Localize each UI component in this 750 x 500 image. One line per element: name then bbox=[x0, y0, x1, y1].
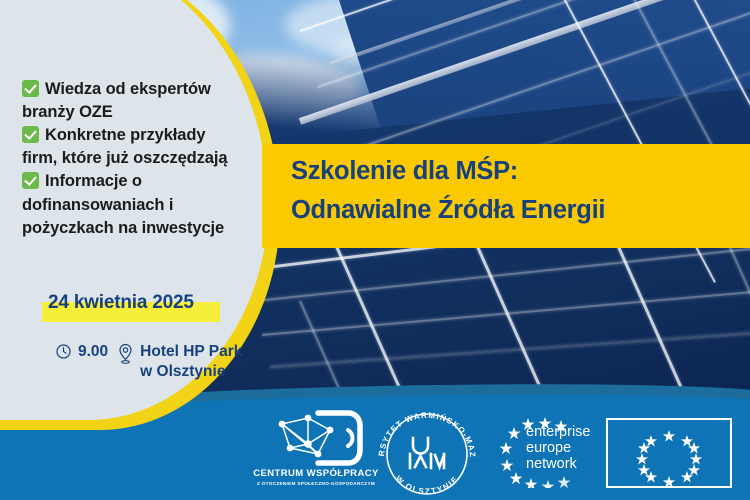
een-line-2: europe bbox=[526, 440, 590, 456]
logo-european-union-flag bbox=[606, 418, 732, 488]
een-wordmark: enterprise europe network bbox=[526, 424, 590, 473]
list-item: Konkretne przykłady bbox=[22, 124, 280, 146]
logo-strip: CENTRUM WSPÓŁPRACY Z OTOCZENIEM SPOŁECZN… bbox=[0, 404, 750, 500]
event-venue: Hotel HP Parkw Olsztynie bbox=[117, 342, 242, 382]
event-time: 9.00 bbox=[55, 342, 108, 362]
promotional-poster: Wiedza od ekspertów branży OZE Konkretne… bbox=[0, 0, 750, 500]
bullet-text: dofinansowaniach i bbox=[22, 196, 173, 214]
title-line-1: Szkolenie dla MŚP: bbox=[291, 157, 518, 186]
list-item-continuation: dofinansowaniach i bbox=[22, 194, 280, 216]
event-meta: 9.00 Hotel HP Parkw Olsztynie bbox=[55, 342, 242, 382]
logo-centrum-wspolpracy: CENTRUM WSPÓŁPRACY Z OTOCZENIEM SPOŁECZN… bbox=[246, 410, 386, 486]
bullet-text: firm, które już oszczędzają bbox=[22, 149, 227, 167]
time-text: 9.00 bbox=[78, 342, 108, 362]
een-line-1: enterprise bbox=[526, 424, 590, 440]
check-icon bbox=[22, 80, 39, 97]
benefits-list: Wiedza od ekspertów branży OZE Konkretne… bbox=[22, 78, 280, 240]
svg-text:W OLSZTYNIE: W OLSZTYNIE bbox=[394, 474, 461, 496]
bullet-text: pożyczkach na inwestycje bbox=[22, 219, 224, 237]
list-item-continuation: branży OZE bbox=[22, 101, 280, 123]
centrum-name: CENTRUM WSPÓŁPRACY bbox=[246, 468, 386, 479]
uwm-seal-icon: UNIWERSYTET WARMIŃSKO-MAZURSKI W OLSZTYN… bbox=[374, 408, 480, 496]
bullet-text: Wiedza od ekspertów bbox=[45, 80, 211, 98]
location-pin-icon bbox=[117, 343, 134, 365]
list-item: Wiedza od ekspertów bbox=[22, 78, 280, 100]
bullet-text: Konkretne przykłady bbox=[45, 126, 205, 144]
network-hexagon-icon bbox=[268, 410, 364, 466]
left-panel-content: Wiedza od ekspertów branży OZE Konkretne… bbox=[0, 0, 290, 400]
bullet-text: branży OZE bbox=[22, 103, 113, 121]
uwm-arc-bottom: W OLSZTYNIE bbox=[394, 474, 461, 496]
title-line-2: Odnawialne Źródła Energii bbox=[291, 196, 605, 225]
list-item-continuation: firm, które już oszczędzają bbox=[22, 147, 280, 169]
event-date: 24 kwietnia 2025 bbox=[48, 292, 194, 314]
logo-uwm-olsztyn: UNIWERSYTET WARMIŃSKO-MAZURSKI W OLSZTYN… bbox=[374, 408, 480, 496]
check-icon bbox=[22, 126, 39, 143]
centrum-subtitle: Z OTOCZENIEM SPOŁECZNO-GOSPODARCZYM bbox=[246, 481, 386, 486]
list-item-continuation: pożyczkach na inwestycje bbox=[22, 217, 280, 239]
title-banner: Szkolenie dla MŚP: Odnawialne Źródła Ene… bbox=[262, 144, 750, 248]
check-icon bbox=[22, 172, 39, 189]
date-text: 24 kwietnia 2025 bbox=[48, 292, 194, 314]
een-line-3: network bbox=[526, 456, 590, 472]
eu-stars-icon bbox=[608, 420, 730, 486]
venue-line-1: Hotel HP Park bbox=[140, 343, 242, 360]
eu-flag-box bbox=[606, 418, 732, 488]
venue-text: Hotel HP Parkw Olsztynie bbox=[140, 342, 242, 382]
list-item: Informacje o bbox=[22, 170, 280, 192]
bullet-text: Informacje o bbox=[45, 172, 142, 190]
venue-line-2: w Olsztynie bbox=[140, 363, 225, 380]
clock-icon bbox=[55, 343, 72, 360]
logo-enterprise-europe-network: enterprise europe network bbox=[498, 416, 602, 488]
